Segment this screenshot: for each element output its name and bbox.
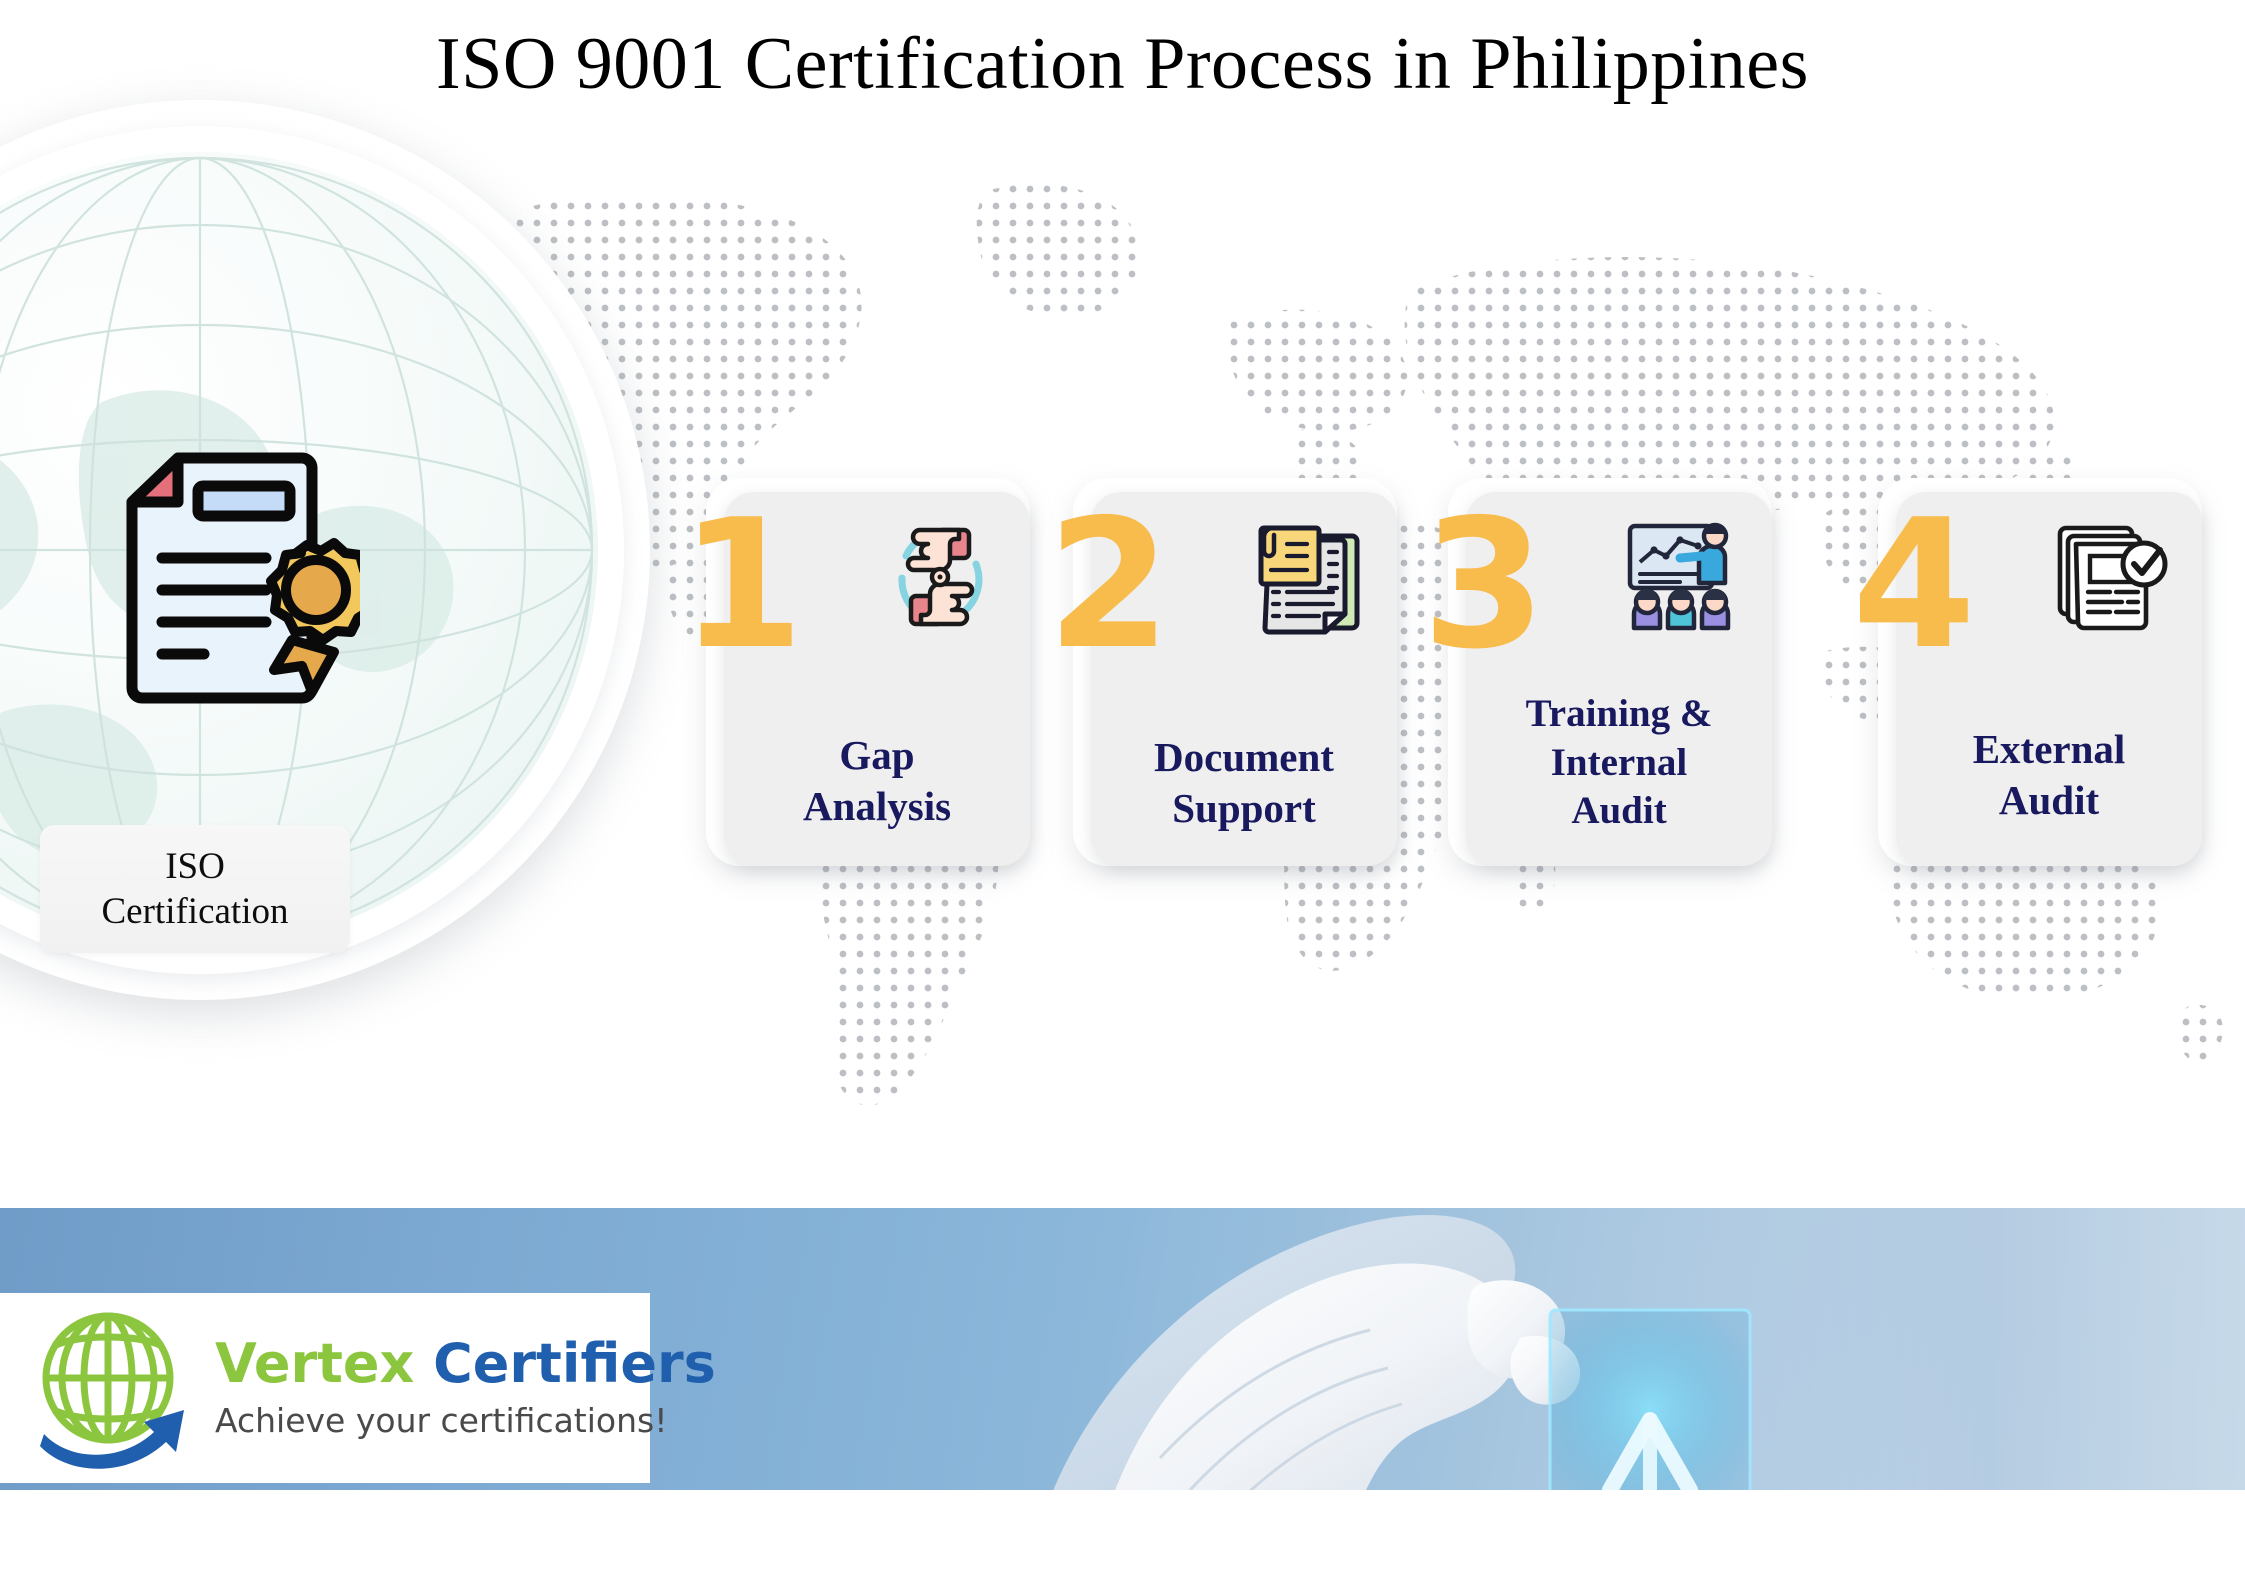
step-number-3: 3 xyxy=(1422,496,1540,674)
upper-content-panel: ISO Certification 1 xyxy=(0,0,2245,1208)
step-label-3: Training & Internal Audit xyxy=(1466,690,1772,836)
step-label-3-line1: Training & xyxy=(1476,690,1762,739)
step-number-2: 2 xyxy=(1047,496,1165,674)
step-label-3-line2: Internal xyxy=(1476,739,1762,788)
step-number-1: 1 xyxy=(680,496,798,674)
step-label-3-line3: Audit xyxy=(1476,787,1762,836)
step-label-4-line2: Audit xyxy=(1906,775,2192,826)
logo-name: Vertex Certifiers xyxy=(215,1337,716,1391)
step-number-4: 4 xyxy=(1852,496,1970,674)
step-card-gap-analysis[interactable]: 1 Gap Analysis xyxy=(706,478,1030,866)
page-title: ISO 9001 Certification Process in Philip… xyxy=(0,22,2245,107)
step-label-1: Gap Analysis xyxy=(724,730,1030,833)
vertex-certifiers-logo[interactable]: Vertex Certifiers Achieve your certifica… xyxy=(0,1293,650,1483)
logo-text-block: Vertex Certifiers Achieve your certifica… xyxy=(215,1337,716,1440)
step-label-1-line2: Analysis xyxy=(734,781,1020,832)
certificate-with-award-seal-icon xyxy=(70,450,360,710)
step-card-external-audit[interactable]: 4 xyxy=(1878,478,2202,866)
iso-certification-label: ISO Certification xyxy=(40,825,350,953)
hand-touching-glowing-arrow-panel-photo xyxy=(1050,1208,2050,1490)
step-label-2: Document Support xyxy=(1091,732,1397,835)
logo-tagline: Achieve your certifications! xyxy=(215,1401,716,1440)
vertex-globe-arrow-logo-icon xyxy=(26,1306,201,1471)
step-label-4-line1: External xyxy=(1906,724,2192,775)
step-card-training-internal-audit[interactable]: 3 xyxy=(1448,478,1772,866)
documents-with-note-icon xyxy=(1243,516,1371,638)
step-label-4: External Audit xyxy=(1896,724,2202,827)
handshake-collaboration-icon xyxy=(876,516,1004,638)
step-label-2-line1: Document xyxy=(1101,732,1387,783)
logo-name-vertex: Vertex xyxy=(215,1332,433,1395)
audit-documents-checkmark-icon xyxy=(2048,516,2176,638)
step-label-2-line2: Support xyxy=(1101,783,1387,834)
step-card-document-support[interactable]: 2 xyxy=(1073,478,1397,866)
iso-label-line1: ISO xyxy=(165,844,225,889)
infographic-canvas: ISO Certification 1 xyxy=(0,0,2245,1587)
logo-name-certifiers: Certifiers xyxy=(433,1332,716,1395)
iso-label-line2: Certification xyxy=(102,889,289,934)
training-presentation-icon xyxy=(1618,516,1746,638)
step-label-1-line1: Gap xyxy=(734,730,1020,781)
